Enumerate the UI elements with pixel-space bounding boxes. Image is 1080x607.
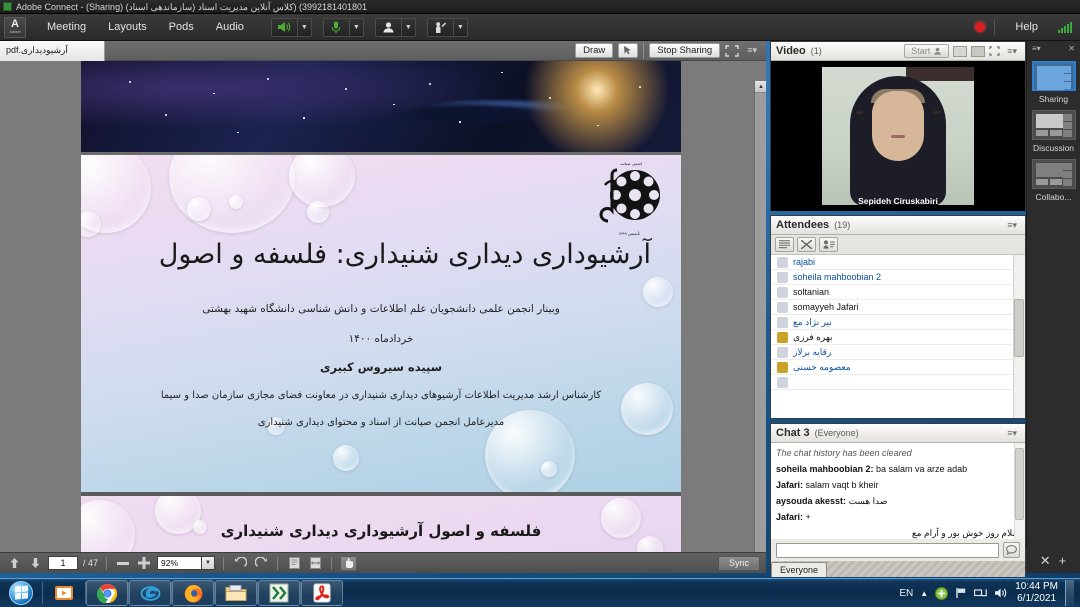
chat-text: صدا هست — [849, 496, 888, 506]
svg-text:تأسیس ۱۳۹۹: تأسیس ۱۳۹۹ — [618, 230, 640, 236]
add-layout-icon[interactable]: + — [1059, 553, 1067, 568]
fit-page-icon[interactable] — [286, 555, 302, 571]
avatar — [777, 257, 788, 268]
chat-message: soheila mahboobian 2: ba salam va arze a… — [776, 463, 1020, 476]
speaker-icon[interactable] — [271, 18, 297, 37]
chat-author: soheila mahboobian 2: — [776, 464, 874, 474]
microphone-dropdown-icon[interactable]: ▼ — [349, 18, 364, 37]
adobe-logo: A Adobe — [4, 17, 26, 38]
page-total-label: / 47 — [83, 558, 98, 568]
list-item[interactable]: soheila mahboobian 2 — [771, 270, 1025, 285]
video-stream[interactable]: Sepideh Ciruskabiri — [771, 61, 1025, 211]
sync-button[interactable]: Sync — [718, 556, 760, 571]
list-item[interactable]: نیر نژاد مع — [771, 315, 1025, 330]
connect-menubar: A Adobe Meeting Layouts Pods Audio ▼ ▼ — [0, 14, 1080, 41]
attendee-name: نیر نژاد مع — [793, 317, 832, 328]
chat-message: aysouda akesst: صدا هست — [776, 495, 1020, 508]
arrow-up-icon[interactable] — [6, 555, 22, 571]
tray-date: 6/1/2021 — [1015, 593, 1058, 605]
system-tray: EN ▲ 10:44 PM 6/1/2021 — [899, 580, 1080, 606]
webcam-control[interactable]: ▼ — [375, 18, 416, 37]
chat-message: Jafari: + — [776, 511, 1020, 524]
google-chrome-icon[interactable] — [86, 580, 128, 606]
avatar — [777, 332, 788, 343]
divider — [223, 557, 224, 570]
grid-view-icon[interactable] — [953, 46, 967, 57]
attendee-name: رقایه برلاز — [793, 347, 831, 358]
attendees-pod-title: Attendees — [776, 219, 829, 231]
attendees-toolbar — [771, 235, 1025, 255]
pan-hand-icon[interactable] — [340, 556, 357, 571]
fullscreen-icon[interactable] — [989, 46, 1000, 56]
attendee-name: somayyeh Jafari — [793, 302, 859, 312]
list-item[interactable]: soltanian — [771, 285, 1025, 300]
zoom-select[interactable]: 92% ▼ — [157, 556, 215, 570]
windows-start-orb[interactable] — [0, 579, 42, 607]
chat-compose-row — [771, 539, 1025, 561]
scroll-up-icon[interactable]: ▲ — [755, 81, 766, 93]
chevron-up-icon[interactable]: ▲ — [920, 589, 928, 598]
window-titlebar: 3992181401801) (کلاس آنلاین مدیریت اسناد… — [0, 0, 1080, 14]
connect-icon — [3, 2, 12, 11]
video-pod-header: Video (1) Start ≡▾ — [771, 42, 1025, 61]
chat-text: salam vaqt b kheir — [806, 480, 879, 490]
attendee-name: بهره فرزی — [793, 332, 833, 343]
attendee-name: soltanian — [793, 287, 829, 297]
record-dot — [975, 22, 985, 32]
windows-taskbar: EN ▲ 10:44 PM 6/1/2021 — [0, 578, 1080, 607]
window-title: 3992181401801) (کلاس آنلاین مدیریت اسناد… — [16, 0, 367, 14]
pod-menu-icon[interactable]: ≡▾ — [1004, 428, 1020, 439]
chat-pod-title: Chat 3 — [776, 427, 810, 439]
menu-pods[interactable]: Pods — [158, 17, 205, 37]
minus-icon[interactable] — [115, 555, 131, 571]
fit-width-icon[interactable] — [307, 555, 323, 571]
tray-language[interactable]: EN — [899, 588, 913, 599]
chat-author: Jafari: — [776, 480, 803, 490]
slide-presenter-role-1: کارشناس ارشد مدیریت اطلاعات آرشیوهای دید… — [81, 390, 681, 401]
attendees-pod: Attendees (19) ≡▾ r — [770, 215, 1026, 419]
video-pod-title: Video — [776, 45, 806, 57]
layout-item-sharing[interactable]: Sharing — [1032, 61, 1076, 104]
attendee-name: معصومه حسنی — [793, 362, 851, 373]
scrollbar-thumb[interactable] — [1015, 448, 1024, 520]
chat-scrollbar[interactable] — [1014, 443, 1025, 539]
raise-hand-icon[interactable] — [427, 18, 453, 37]
pointer-icon[interactable] — [618, 43, 638, 58]
pod-menu-icon[interactable]: ≡▾ — [1032, 44, 1041, 53]
right-pod-column: Video (1) Start ≡▾ — [770, 41, 1026, 573]
chat-author: aysouda akesst: — [776, 496, 846, 506]
avatar — [777, 272, 788, 283]
list-item[interactable]: رقایه برلاز — [771, 345, 1025, 360]
video-pod-count: (1) — [811, 46, 822, 56]
layouts-header: ≡▾ ✕ — [1027, 41, 1080, 55]
divider — [106, 557, 107, 570]
slide-title: آرشیوداری دیداری شنیداری: فلسفه و اصول — [111, 239, 651, 270]
internet-explorer-icon[interactable] — [129, 580, 171, 606]
slide-2: فلسفه و اصول آرشیوداری دیداری شنیداری — [81, 492, 681, 552]
webcam-dropdown-icon[interactable]: ▼ — [401, 18, 416, 37]
speaker-dropdown-icon[interactable]: ▼ — [297, 18, 312, 37]
speaker-control[interactable]: ▼ — [271, 18, 312, 37]
divider — [331, 557, 332, 570]
layout-label: Sharing — [1032, 94, 1076, 104]
slide-subtitle: وبینار انجمن علمی دانشجویان علم اطلاعات … — [81, 303, 681, 315]
chat-pod-header: Chat 3 (Everyone) ≡▾ — [771, 424, 1025, 443]
close-icon[interactable]: ✕ — [1068, 44, 1075, 53]
adobe-logo-letter: A — [11, 20, 19, 29]
share-pod-tabbar: آرشیودیداری.pdf Draw Stop Sharing ≡▾ — [0, 41, 766, 61]
start-webcam-button[interactable]: Start — [904, 44, 949, 58]
chat-tab-everyone[interactable]: Everyone — [771, 562, 827, 577]
chat-author: Jafari: — [776, 512, 803, 522]
webcam-icon[interactable] — [375, 18, 401, 37]
tray-clock[interactable]: 10:44 PM 6/1/2021 — [1015, 581, 1058, 605]
chat-pod: Chat 3 (Everyone) ≡▾ The chat history ha… — [770, 423, 1026, 573]
attendee-options-icon[interactable] — [819, 237, 838, 252]
menu-audio[interactable]: Audio — [205, 17, 255, 37]
show-desktop-button[interactable] — [1065, 580, 1074, 606]
adobe-connect-window: 3992181401801) (کلاس آنلاین مدیریت اسناد… — [0, 0, 1080, 607]
avatar — [777, 377, 788, 388]
menu-help[interactable]: Help — [1004, 17, 1049, 37]
list-item[interactable]: معصومه حسنی — [771, 360, 1025, 375]
chat-input[interactable] — [776, 543, 999, 558]
microphone-icon[interactable] — [323, 18, 349, 37]
attendees-pod-header: Attendees (19) ≡▾ — [771, 216, 1025, 235]
video-speaker-name: Sepideh Ciruskabiri — [858, 196, 938, 206]
arrow-down-icon[interactable] — [27, 555, 43, 571]
avatar — [777, 287, 788, 298]
mozilla-firefox-icon[interactable] — [172, 580, 214, 606]
divider — [994, 19, 995, 35]
chat-text: + — [806, 512, 811, 522]
page-number-input[interactable]: 1 — [48, 556, 78, 570]
chat-text: سلام روز خوش بور و آرام مع — [912, 528, 1020, 538]
shared-pdf-document: انجمن صیانت تأسیس ۱۳۹۹ آرشیوداری دیداری … — [81, 61, 681, 552]
start-webcam-label: Start — [911, 46, 930, 56]
layout-label: Discussion — [1032, 143, 1076, 153]
rotate-right-icon[interactable] — [253, 555, 269, 571]
slide-1: انجمن صیانت تأسیس ۱۳۹۹ آرشیوداری دیداری … — [81, 152, 681, 492]
attendees-count: (19) — [834, 220, 850, 230]
fullscreen-icon[interactable] — [725, 45, 739, 57]
webcam-feed — [822, 67, 974, 205]
svg-text:انجمن صیانت: انجمن صیانت — [620, 161, 642, 166]
menu-layouts[interactable]: Layouts — [97, 17, 158, 37]
attendee-name: rajabi — [793, 257, 815, 267]
divider — [643, 43, 644, 59]
plus-icon[interactable] — [136, 555, 152, 571]
list-item[interactable]: rajabi — [771, 255, 1025, 270]
raise-hand-control[interactable]: ▼ — [427, 18, 468, 37]
kmplayer-icon[interactable] — [258, 580, 300, 606]
signal-bars-icon[interactable] — [1058, 22, 1072, 33]
zoom-value-label: 92% — [157, 556, 202, 570]
tray-time: 10:44 PM — [1015, 581, 1058, 593]
filmstrip-view-icon[interactable] — [971, 46, 985, 57]
chat-messages[interactable]: The chat history has been cleared soheil… — [771, 443, 1025, 539]
breakout-rooms-icon[interactable] — [797, 237, 816, 252]
layout-thumbnail — [1032, 61, 1076, 91]
attendees-scrollbar[interactable] — [1013, 255, 1025, 418]
slide-scrollbar[interactable]: ▲ — [754, 81, 766, 552]
layout-label: Collabo... — [1032, 192, 1076, 202]
share-pod: آرشیودیداری.pdf Draw Stop Sharing ≡▾ — [0, 41, 766, 573]
volume-icon[interactable] — [994, 587, 1008, 599]
media-player-icon[interactable] — [43, 580, 85, 606]
layouts-bottom-controls: ✕ + — [1026, 548, 1080, 573]
chat-tab-strip: Everyone — [771, 561, 1025, 577]
chat-pod-scope: (Everyone) — [815, 428, 859, 438]
share-pod-tools: Draw Stop Sharing ≡▾ — [575, 43, 766, 59]
chat-system-message: The chat history has been cleared — [776, 447, 1020, 460]
list-item[interactable] — [771, 375, 1025, 390]
avt-archive-association-logo: انجمن صیانت تأسیس ۱۳۹۹ — [591, 159, 667, 241]
send-chat-icon[interactable] — [1003, 542, 1020, 558]
slide-presenter-name: سپیده سیروس کبیری — [81, 360, 681, 374]
microphone-control[interactable]: ▼ — [323, 18, 364, 37]
rotate-left-icon[interactable] — [232, 555, 248, 571]
pdf-toolbar: 1 / 47 92% ▼ — [0, 552, 766, 573]
list-item[interactable]: بهره فرزی — [771, 330, 1025, 345]
scrollbar-thumb[interactable] — [1014, 299, 1024, 357]
avatar — [777, 362, 788, 373]
layouts-sidebar: ≡▾ ✕ Sharing Discussion Collabo... — [1026, 41, 1080, 573]
menu-meeting[interactable]: Meeting — [36, 17, 97, 37]
layout-thumbnail — [1032, 159, 1076, 189]
video-pod: Video (1) Start ≡▾ — [770, 41, 1026, 211]
chevron-down-icon[interactable]: ▼ — [202, 556, 215, 570]
list-item[interactable]: somayyeh Jafari — [771, 300, 1025, 315]
avatar — [777, 317, 788, 328]
slide-date: خردادماه ۱۴۰۰ — [81, 333, 681, 345]
layout-item-discussion[interactable]: Discussion — [1032, 110, 1076, 153]
adobe-reader-icon[interactable] — [301, 580, 343, 606]
shared-document-tab[interactable]: آرشیودیداری.pdf — [0, 41, 105, 61]
stop-sharing-button[interactable]: Stop Sharing — [649, 43, 720, 58]
network-icon[interactable] — [974, 587, 987, 599]
adobe-logo-word: Adobe — [9, 29, 21, 34]
webcam-icon — [933, 47, 942, 55]
avatar — [777, 347, 788, 358]
chat-message: سلام روز خوش بور و آرام مع — [776, 527, 1020, 539]
attendee-name: soheila mahboobian 2 — [793, 272, 881, 282]
draw-button[interactable]: Draw — [575, 43, 613, 58]
update-icon[interactable] — [935, 587, 948, 600]
attendees-list[interactable]: rajabi soheila mahboobian 2 soltanian so… — [771, 255, 1025, 418]
chat-text: ba salam va arze adab — [876, 464, 967, 474]
slide-presenter-role-2: مدیرعامل انجمن صیانت از اسناد و محتوای د… — [81, 417, 681, 428]
avatar — [777, 302, 788, 313]
layout-item-collaboration[interactable]: Collabo... — [1032, 159, 1076, 202]
slide-canvas[interactable]: انجمن صیانت تأسیس ۱۳۹۹ آرشیوداری دیداری … — [0, 61, 766, 552]
pod-menu-icon[interactable]: ≡▾ — [1004, 220, 1020, 231]
slide-2-title: فلسفه و اصول آرشیوداری دیداری شنیداری — [81, 522, 681, 540]
divider — [277, 557, 278, 570]
list-view-icon[interactable] — [775, 237, 794, 252]
windows-explorer-icon[interactable] — [215, 580, 257, 606]
pod-menu-icon[interactable]: ≡▾ — [1004, 46, 1020, 57]
close-layout-icon[interactable]: ✕ — [1040, 553, 1051, 569]
flag-action-center-icon[interactable] — [955, 587, 967, 599]
layout-thumbnail — [1032, 110, 1076, 140]
slide-banner-image — [81, 61, 681, 152]
pod-menu-icon[interactable]: ≡▾ — [744, 45, 760, 56]
chat-message: Jafari: salam vaqt b kheir — [776, 479, 1020, 492]
raise-hand-dropdown-icon[interactable]: ▼ — [453, 18, 468, 37]
